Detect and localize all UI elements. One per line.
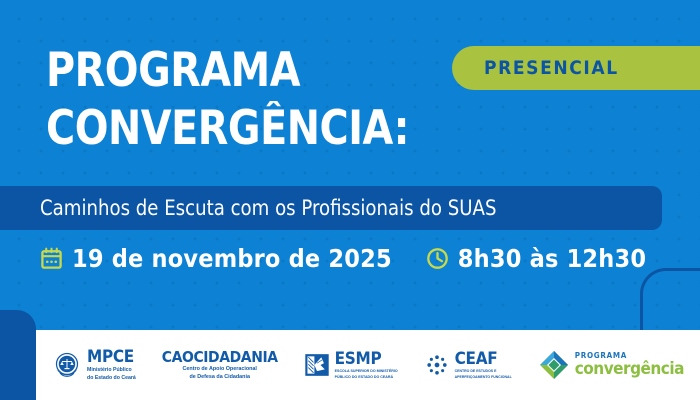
presencial-badge-label: PRESENCIAL — [484, 57, 619, 79]
decorative-corner-block — [0, 310, 36, 400]
esmp-emblem-icon — [304, 352, 330, 378]
logo-esmp: ESMP ESCOLA SUPERIOR DO MINISTÉRIO PÚBLI… — [304, 351, 398, 379]
logo-bar: MPCE Ministério Público do Estado do Cea… — [36, 330, 700, 400]
logo-mpce-line1: Ministério Público — [87, 367, 136, 373]
event-time-text: 8h30 às 12h30 — [458, 244, 646, 273]
logo-ceaf-acronym: CEAF — [455, 351, 512, 368]
event-date-text: 19 de novembro de 2025 — [72, 244, 392, 273]
logo-caocidadania-acronym: CAOCIDADANIA — [162, 350, 278, 366]
logo-esmp-line2: PÚBLICO DO ESTADO DO CEARÁ — [335, 375, 398, 379]
clock-icon — [426, 247, 449, 270]
logo-caocidadania: CAOCIDADANIA Centro de Apoio Operacional… — [162, 350, 278, 380]
logo-esmp-text: ESMP ESCOLA SUPERIOR DO MINISTÉRIO PÚBLI… — [335, 351, 398, 379]
convergencia-diamond-icon — [538, 349, 570, 381]
logo-ceaf-line1: CENTRO DE ESTUDOS E — [455, 369, 512, 373]
logo-esmp-acronym: ESMP — [335, 351, 398, 368]
title-line-2: CONVERGÊNCIA: — [46, 100, 441, 158]
logo-mpce: MPCE Ministério Público do Estado do Cea… — [52, 349, 136, 380]
logo-ceaf: CEAF CENTRO DE ESTUDOS E APERFEIÇOAMENTO… — [424, 351, 512, 379]
logo-programa-convergencia-main: convergência — [575, 361, 684, 379]
event-poster: PRESENCIAL PROGRAMA CONVERGÊNCIA: Caminh… — [0, 0, 700, 400]
event-time: 8h30 às 12h30 — [426, 244, 646, 273]
title-line-1: PROGRAMA — [46, 42, 441, 100]
calendar-icon — [40, 247, 63, 270]
logo-mpce-line2: do Estado do Ceará — [87, 375, 136, 381]
event-meta: 19 de novembro de 2025 8h30 às 12h30 — [40, 244, 646, 273]
subtitle-text: Caminhos de Escuta com os Profissionais … — [40, 196, 496, 220]
logo-caocidadania-line2: de Defesa da Cidadania — [189, 374, 250, 380]
subtitle-bar: Caminhos de Escuta com os Profissionais … — [0, 186, 662, 230]
event-date: 19 de novembro de 2025 — [40, 244, 392, 273]
logo-mpce-text: MPCE Ministério Público do Estado do Cea… — [87, 349, 136, 380]
logo-caocidadania-line1: Centro de Apoio Operacional — [183, 366, 257, 372]
logo-ceaf-line2: APERFEIÇOAMENTO FUNCIONAL — [455, 375, 512, 379]
page-title: PROGRAMA CONVERGÊNCIA: — [46, 42, 466, 158]
logo-programa-convergencia: PROGRAMA convergência — [538, 349, 684, 381]
logo-programa-convergencia-text: PROGRAMA convergência — [575, 352, 684, 379]
presencial-badge: PRESENCIAL — [452, 46, 700, 90]
mpce-emblem-icon — [52, 350, 82, 380]
logo-mpce-acronym: MPCE — [87, 349, 136, 366]
logo-esmp-line1: ESCOLA SUPERIOR DO MINISTÉRIO — [335, 369, 398, 373]
logo-ceaf-text: CEAF CENTRO DE ESTUDOS E APERFEIÇOAMENTO… — [455, 351, 512, 379]
ceaf-emblem-icon — [424, 352, 450, 378]
